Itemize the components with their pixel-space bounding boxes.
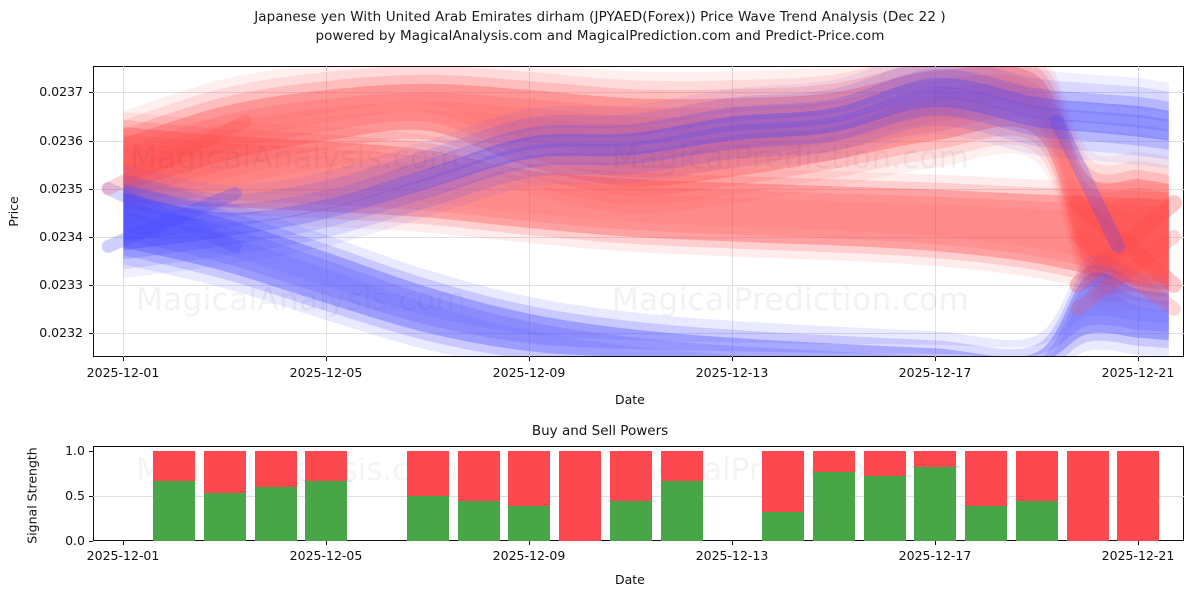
sell-power-segment [661,451,703,481]
sell-power-segment [914,451,956,467]
bar-stack[interactable] [407,451,449,541]
bar-y-tick-label: 1.0 [41,443,85,458]
bar-stack[interactable] [559,451,601,541]
sell-power-segment [508,451,550,506]
sell-power-segment [305,451,347,481]
bar-stack[interactable] [864,451,906,541]
bar-stack[interactable] [610,451,652,541]
bar-x-tickmark [1138,541,1139,545]
sell-power-segment [407,451,449,496]
sell-power-segment [1067,451,1109,541]
sell-power-segment [813,451,855,472]
bar-y-tick-label: 0.5 [41,488,85,503]
buy-power-segment [864,476,906,541]
bar-x-tick-label: 2025-12-21 [1083,548,1193,563]
buy-power-segment [153,481,195,541]
buy-power-segment [661,481,703,541]
bar-y-tickmark [89,451,93,452]
bar-stack[interactable] [965,451,1007,541]
buy-power-segment [813,472,855,541]
buy-power-segment [255,487,297,541]
bar-x-tick-label: 2025-12-09 [474,548,584,563]
chart-page: Japanese yen With United Arab Emirates d… [0,0,1200,600]
buy-power-segment [458,501,500,541]
sell-power-segment [559,451,601,541]
sell-power-segment [458,451,500,501]
bar-stack[interactable] [255,451,297,541]
bar-stack[interactable] [458,451,500,541]
sell-power-segment [1016,451,1058,501]
bar-x-tickmark [326,541,327,545]
bar-x-tickmark [732,541,733,545]
sell-power-segment [255,451,297,487]
sell-power-segment [204,451,246,493]
bar-stack[interactable] [305,451,347,541]
buy-power-segment [204,493,246,541]
sell-power-segment [153,451,195,481]
buy-power-segment [965,506,1007,541]
bar-x-tick-label: 2025-12-13 [677,548,787,563]
bar-y-tick-label: 0.0 [41,533,85,548]
buy-power-segment [305,481,347,541]
bar-stack[interactable] [204,451,246,541]
bar-stack[interactable] [153,451,195,541]
bar-stack[interactable] [914,451,956,541]
buy-power-segment [762,512,804,541]
bar-stack[interactable] [762,451,804,541]
sell-power-segment [864,451,906,476]
bar-y-tickmark [89,541,93,542]
buy-power-segment [914,467,956,541]
buy-power-segment [1016,501,1058,541]
buy-power-segment [610,501,652,541]
bar-stack[interactable] [1067,451,1109,541]
bar-stack[interactable] [661,451,703,541]
sell-power-segment [965,451,1007,506]
bar-stack[interactable] [1016,451,1058,541]
buy-power-segment [508,506,550,541]
sell-power-segment [1117,451,1159,541]
bar-x-tickmark [123,541,124,545]
sell-power-segment [610,451,652,501]
bar-y-tickmark [89,496,93,497]
bar-stack[interactable] [508,451,550,541]
bar-stack[interactable] [813,451,855,541]
buy-power-segment [407,496,449,541]
bar-x-tick-label: 2025-12-01 [68,548,178,563]
bar-x-tickmark [935,541,936,545]
bar-x-tickmark [529,541,530,545]
bar-stack[interactable] [1117,451,1159,541]
bar-x-tick-label: 2025-12-17 [880,548,990,563]
sell-power-segment [762,451,804,512]
bar-x-tick-label: 2025-12-05 [271,548,381,563]
